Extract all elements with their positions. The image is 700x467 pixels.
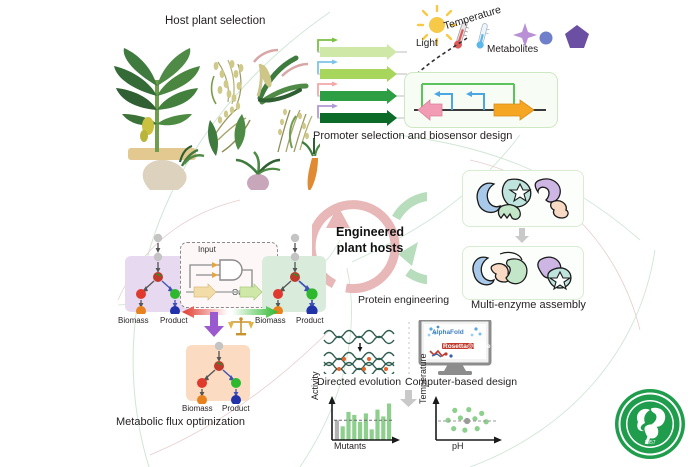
- scatter-point: [466, 407, 471, 412]
- rice-plant-icon: [212, 60, 244, 104]
- scatter-point: [462, 428, 467, 433]
- promoter-panel-label: Promoter selection and biosensor design: [313, 130, 512, 143]
- metabolite-pentagon-icon: [565, 25, 589, 48]
- hub-title-line2: plant hosts: [337, 241, 404, 255]
- promoter-arrow-1: [317, 38, 407, 61]
- assembled-enzymes-icons: [464, 248, 580, 296]
- bottom-biomass-label: Biomass: [182, 404, 213, 413]
- host-plant-selection-label: Host plant selection: [165, 15, 265, 28]
- carrot-icon: [302, 138, 320, 190]
- bottom-flux-network: [183, 332, 255, 404]
- biosensor-construct-diagram: [406, 74, 554, 124]
- scatter-point: [479, 411, 484, 416]
- panel-divider: [408, 322, 410, 380]
- bar: [341, 426, 345, 440]
- promoter-arrow-2: [317, 60, 407, 83]
- scatter-point: [472, 416, 477, 421]
- rosetta-label: Rosetta@home: [443, 343, 491, 350]
- promoter-arrow-3: [317, 82, 407, 105]
- bar: [358, 422, 362, 440]
- free-enzymes-icons: [464, 172, 580, 223]
- bar: [352, 415, 356, 440]
- alphafold-label: AlphaFold: [432, 329, 464, 336]
- hub-title: Engineered plant hosts: [332, 225, 408, 256]
- right-product-label: Product: [296, 316, 324, 325]
- bar: [335, 420, 339, 440]
- scatter-point: [475, 426, 480, 431]
- scatter-point: [445, 418, 450, 423]
- bar: [387, 404, 391, 440]
- logo-year: 1957: [644, 440, 655, 446]
- directed-evolution-label: Directed evolution: [317, 376, 401, 388]
- turnip-icon: [236, 152, 280, 190]
- bar-chart-xlabel: Mutants: [334, 441, 366, 451]
- multi-enzyme-assembly-label: Multi-enzyme assembly: [471, 299, 586, 312]
- figure-canvas: Host plant selection: [0, 0, 700, 467]
- banana-plant-icon: [114, 48, 200, 160]
- bar-chart-ylabel: Activity: [310, 371, 320, 400]
- right-flux-network: [259, 232, 331, 314]
- maize-plant-icon: [254, 50, 308, 102]
- dna-helix-icons: [322, 326, 402, 374]
- institute-logo: 1957: [614, 388, 686, 460]
- promoter-arrow-4: [317, 104, 407, 127]
- metabolite-circle-icon: [540, 32, 553, 45]
- scatter-point: [458, 415, 463, 420]
- protein-engineering-label: Protein engineering: [358, 294, 449, 306]
- bar: [346, 412, 350, 440]
- scatter-point: [484, 419, 489, 424]
- metabolic-flux-label: Metabolic flux optimization: [116, 416, 245, 429]
- bar: [364, 413, 368, 440]
- down-arrow-icon: [514, 228, 530, 244]
- bar: [370, 429, 374, 440]
- temperature-ph-scatter: [424, 396, 508, 454]
- scatter-ylabel: Temperature: [418, 353, 428, 404]
- stimulus-label-metabolites: Metabolites: [487, 44, 538, 56]
- scatter-point: [451, 426, 456, 431]
- host-plant-illustrations: [110, 40, 320, 190]
- left-biomass-label: Biomass: [118, 316, 149, 325]
- bar: [375, 410, 379, 440]
- scatter-point: [452, 408, 457, 413]
- hub-title-line1: Engineered: [336, 225, 404, 239]
- sorghum-plant-icon: [208, 102, 250, 156]
- scatter-xlabel: pH: [452, 441, 464, 451]
- bottom-product-label: Product: [222, 404, 250, 413]
